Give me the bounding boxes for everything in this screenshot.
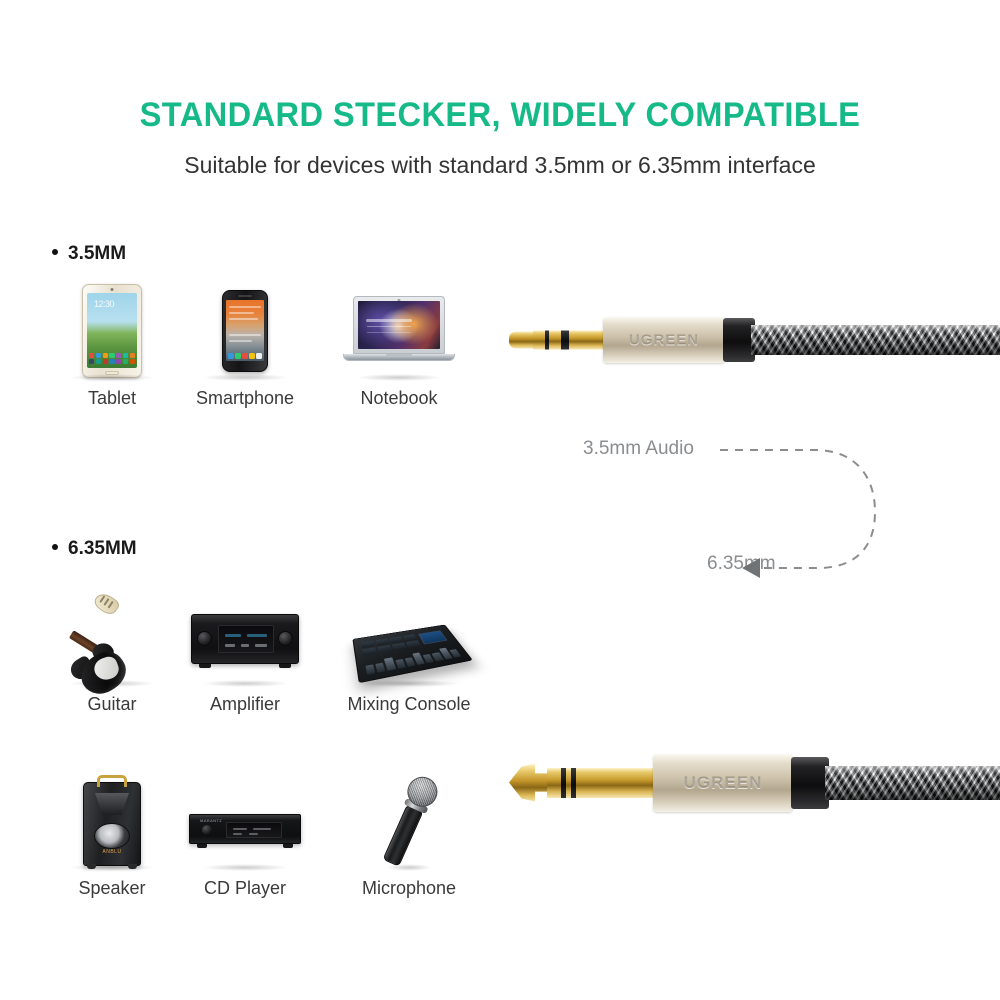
connector-ring-1b: [545, 331, 549, 350]
device-cd-player: MARANTZ CD Player: [180, 772, 310, 899]
tablet-clock: 12:30: [94, 299, 114, 309]
connector-barrel-635mm: UGREEN: [653, 754, 793, 812]
amplifier-knob-right: [278, 631, 293, 646]
notebook-screen-text: [366, 319, 412, 322]
speaker-brand-badge: ANBLU: [102, 849, 121, 855]
device-guitar: Guitar: [47, 588, 177, 715]
speaker-horn-tweeter: [95, 793, 129, 815]
device-mixing-console: Mixing Console: [334, 588, 484, 715]
smartphone-body: [222, 290, 268, 372]
bullet-icon: [52, 544, 58, 550]
braided-cable-35mm: [751, 325, 1000, 355]
notebook-base: [343, 354, 455, 361]
device-notebook: Notebook: [334, 282, 464, 409]
brand-logo-ugreen: UGREEN: [629, 332, 699, 349]
device-amplifier: Amplifier: [180, 588, 310, 715]
cd-player-body: MARANTZ: [189, 814, 301, 844]
strain-relief-635mm: [791, 757, 829, 809]
amplifier-display: [218, 625, 274, 653]
amplifier-knob-left: [197, 631, 212, 646]
device-shadow: [69, 864, 155, 871]
device-shadow: [386, 864, 432, 871]
device-label: Notebook: [334, 388, 464, 409]
device-label: Tablet: [47, 388, 177, 409]
device-shadow: [357, 680, 461, 687]
amplifier-feet: [195, 664, 295, 668]
notebook-lid: [353, 296, 445, 354]
device-shadow: [69, 680, 155, 687]
device-label: Amplifier: [180, 694, 310, 715]
speaker-woofer: [94, 823, 130, 849]
mixing-console-screen: [418, 630, 447, 644]
amplifier-icon: [180, 588, 310, 688]
cd-player-feet: [193, 844, 297, 848]
device-label: Microphone: [334, 878, 484, 899]
bullet-icon: [52, 249, 58, 255]
notebook-trackpad-notch: [386, 354, 412, 357]
notebook-screen: [358, 301, 440, 349]
page-subtitle: Suitable for devices with standard 3.5mm…: [0, 152, 1000, 179]
mixing-console-body: [352, 625, 473, 684]
microphone-icon: [334, 772, 484, 872]
guitar-art: [39, 566, 185, 709]
connector-ring-1: [561, 768, 566, 798]
device-tablet: 12:30 Tablet: [47, 282, 177, 409]
page-title: STANDARD STECKER, WIDELY COMPATIBLE: [20, 96, 980, 135]
brand-logo-ugreen: UGREEN: [684, 773, 763, 793]
connector-tip-35mm: [509, 332, 535, 349]
cd-player-brand: MARANTZ: [200, 818, 222, 823]
speaker-body: ANBLU: [83, 782, 141, 866]
connector-ring-2b: [565, 331, 569, 350]
tablet-icon: 12:30: [47, 282, 177, 382]
cd-player-knob: [202, 825, 212, 835]
device-label: Guitar: [47, 694, 177, 715]
product-infographic: STANDARD STECKER, WIDELY COMPATIBLE Suit…: [0, 0, 1000, 1000]
cd-player-icon: MARANTZ: [180, 772, 310, 872]
smartphone-icon: [180, 282, 310, 382]
notebook-icon: [334, 282, 464, 382]
section-label-635mm: 6.35MM: [52, 538, 137, 560]
device-shadow: [356, 374, 442, 381]
device-label: Mixing Console: [334, 694, 484, 715]
device-speaker: ANBLU Speaker: [47, 772, 177, 899]
device-label: CD Player: [180, 878, 310, 899]
device-smartphone: Smartphone: [180, 282, 310, 409]
cable-635mm: UGREEN: [505, 735, 1000, 830]
section-label-text: 3.5MM: [68, 243, 126, 264]
cd-player-tray: [226, 822, 282, 838]
tablet-screen: 12:30: [87, 293, 137, 368]
microphone-handle: [382, 805, 423, 867]
device-shadow: [202, 864, 288, 871]
device-shadow: [202, 374, 288, 381]
device-microphone: Microphone: [334, 772, 484, 899]
section-label-35mm: 3.5MM: [52, 243, 126, 265]
guitar-headstock: [92, 590, 121, 618]
smartphone-dock: [228, 353, 262, 359]
mixing-console-icon: [334, 588, 484, 688]
tablet-body: 12:30: [82, 284, 142, 378]
connector-barrel-35mm: UGREEN: [603, 317, 725, 363]
speaker-icon: ANBLU: [47, 772, 177, 872]
annotation-from-label: 3.5mm Audio: [583, 438, 694, 460]
amplifier-body: [191, 614, 299, 664]
connector-ring-2: [571, 768, 576, 798]
device-label: Smartphone: [180, 388, 310, 409]
connector-shaft-35mm: [533, 331, 605, 350]
tablet-app-grid: [89, 353, 135, 365]
device-shadow: [69, 374, 155, 381]
section-label-text: 6.35MM: [68, 538, 137, 559]
guitar-icon: [47, 588, 177, 688]
device-label: Speaker: [47, 878, 177, 899]
braided-cable-635mm: [825, 766, 1000, 800]
device-shadow: [202, 680, 288, 687]
microphone-art: [368, 769, 449, 875]
smartphone-earpiece-icon: [238, 295, 252, 297]
tablet-camera-icon: [111, 288, 114, 291]
conversion-arrow-icon: [720, 440, 900, 600]
cable-35mm: UGREEN: [505, 300, 1000, 380]
connector-tip-635mm: [509, 764, 551, 802]
smartphone-screen: [226, 300, 264, 361]
speaker-handle: [97, 775, 127, 787]
